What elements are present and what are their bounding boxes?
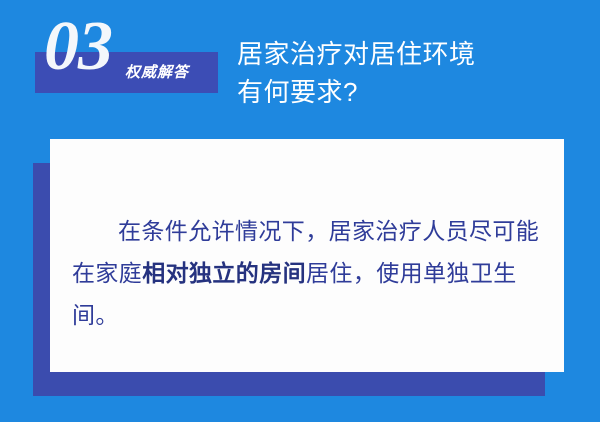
section-badge-label: 权威解答 — [125, 58, 215, 88]
answer-card: 在条件允许情况下，居家治疗人员尽可能在家庭相对独立的房间居住，使用单独卫生间。 — [50, 139, 564, 372]
page-title: 居家治疗对居住环境 有何要求? — [237, 35, 587, 111]
poster-container: 03 权威解答 居家治疗对居住环境 有何要求? 在条件允许情况下，居家治疗人员尽… — [0, 0, 600, 422]
answer-card-body: 在条件允许情况下，居家治疗人员尽可能在家庭相对独立的房间居住，使用单独卫生间。 — [72, 210, 544, 336]
answer-text-emphasis: 相对独立的房间 — [142, 260, 306, 286]
poster-header: 03 权威解答 居家治疗对居住环境 有何要求? — [0, 0, 600, 120]
